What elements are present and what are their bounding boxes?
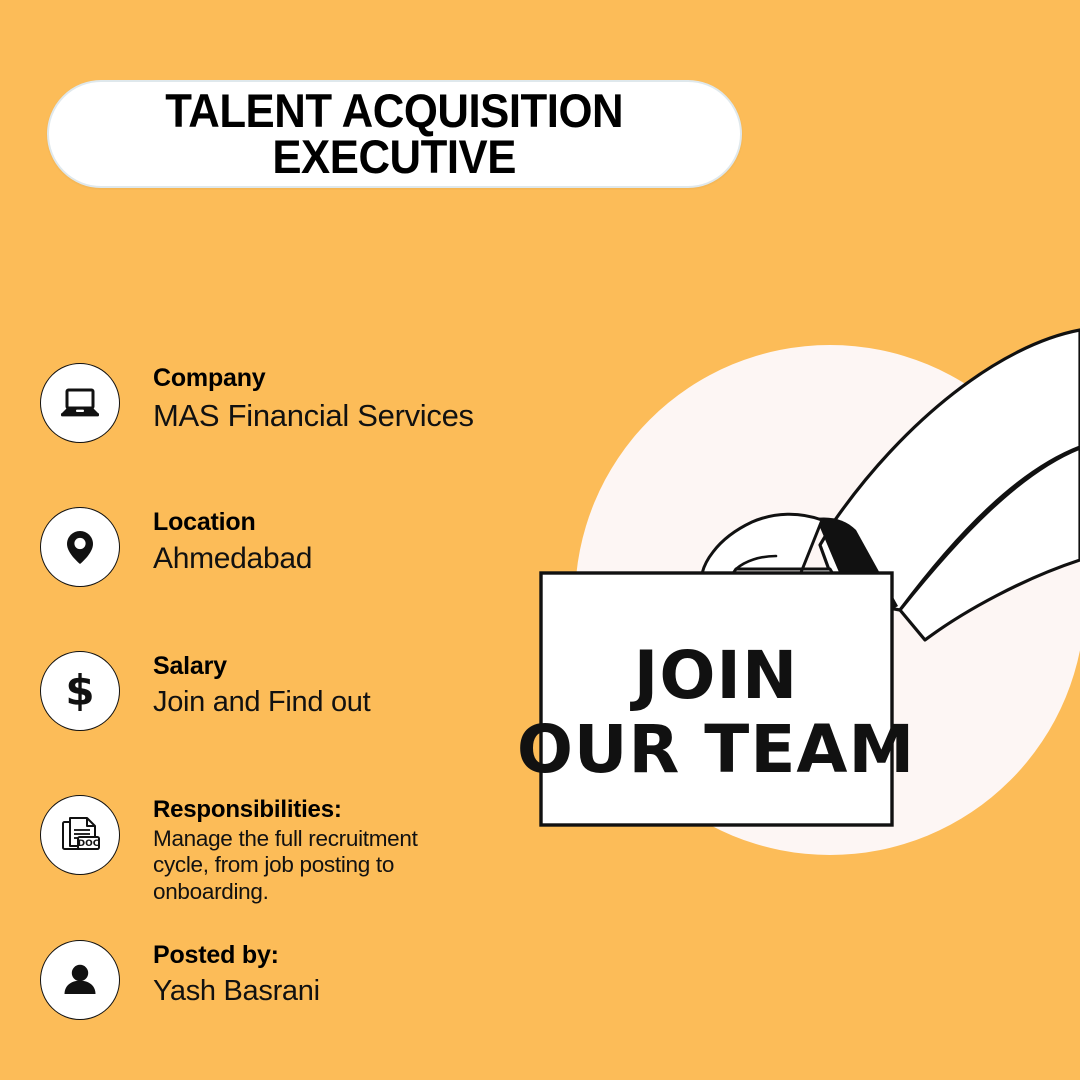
info-row-salary-text: Salary Join and Find out xyxy=(153,651,370,720)
document-doc-icon: DOC xyxy=(40,795,120,875)
laptop-icon xyxy=(40,363,120,443)
cuff-band xyxy=(816,518,898,614)
info-row-posted-by-text: Posted by: Yash Basrani xyxy=(153,940,320,1009)
location-pin-icon xyxy=(40,507,120,587)
sleeve-shape xyxy=(820,330,1080,610)
info-label-posted-by: Posted by: xyxy=(153,942,320,970)
doc-badge-label: DOC xyxy=(78,839,100,849)
info-label-company: Company xyxy=(153,365,474,393)
sign-line-1: JOIN xyxy=(630,637,798,714)
info-value-salary: Join and Find out xyxy=(153,685,370,720)
job-title-pill: TALENT ACQUISITION EXECUTIVE xyxy=(47,80,742,188)
info-row-company: Company MAS Financial Services xyxy=(40,363,474,443)
info-value-posted-by: Yash Basrani xyxy=(153,974,320,1009)
info-label-responsibilities: Responsibilities: xyxy=(153,797,418,823)
page-title: TALENT ACQUISITION EXECUTIVE xyxy=(166,88,624,180)
info-label-location: Location xyxy=(153,509,312,537)
info-value-company: MAS Financial Services xyxy=(153,397,474,435)
info-row-location-text: Location Ahmedabad xyxy=(153,507,312,577)
info-value-location: Ahmedabad xyxy=(153,541,312,578)
sign-line-2: OUR TEAM xyxy=(517,711,915,788)
info-label-salary: Salary xyxy=(153,653,370,681)
sleeve-lower-shape xyxy=(900,448,1080,640)
info-row-responsibilities: DOC Responsibilities: Manage the full re… xyxy=(40,795,418,905)
job-posting-poster: JOIN OUR TEAM TALENT ACQUISITION EXECUTI… xyxy=(0,0,1080,1080)
hand-thumb-crease xyxy=(736,556,776,569)
dollar-sign-icon: $ xyxy=(40,651,120,731)
info-row-company-text: Company MAS Financial Services xyxy=(153,363,474,434)
info-row-location: Location Ahmedabad xyxy=(40,507,312,587)
info-row-salary: $ Salary Join and Find out xyxy=(40,651,370,731)
cream-circle-backdrop xyxy=(575,345,1080,855)
info-row-posted-by: Posted by: Yash Basrani xyxy=(40,940,320,1020)
sign-board xyxy=(541,573,892,825)
hand-shape xyxy=(701,514,856,614)
info-row-responsibilities-text: Responsibilities: Manage the full recrui… xyxy=(153,795,418,905)
person-avatar-icon xyxy=(40,940,120,1020)
info-value-responsibilities: Manage the full recruitment cycle, from … xyxy=(153,826,418,904)
svg-text:$: $ xyxy=(65,667,94,715)
